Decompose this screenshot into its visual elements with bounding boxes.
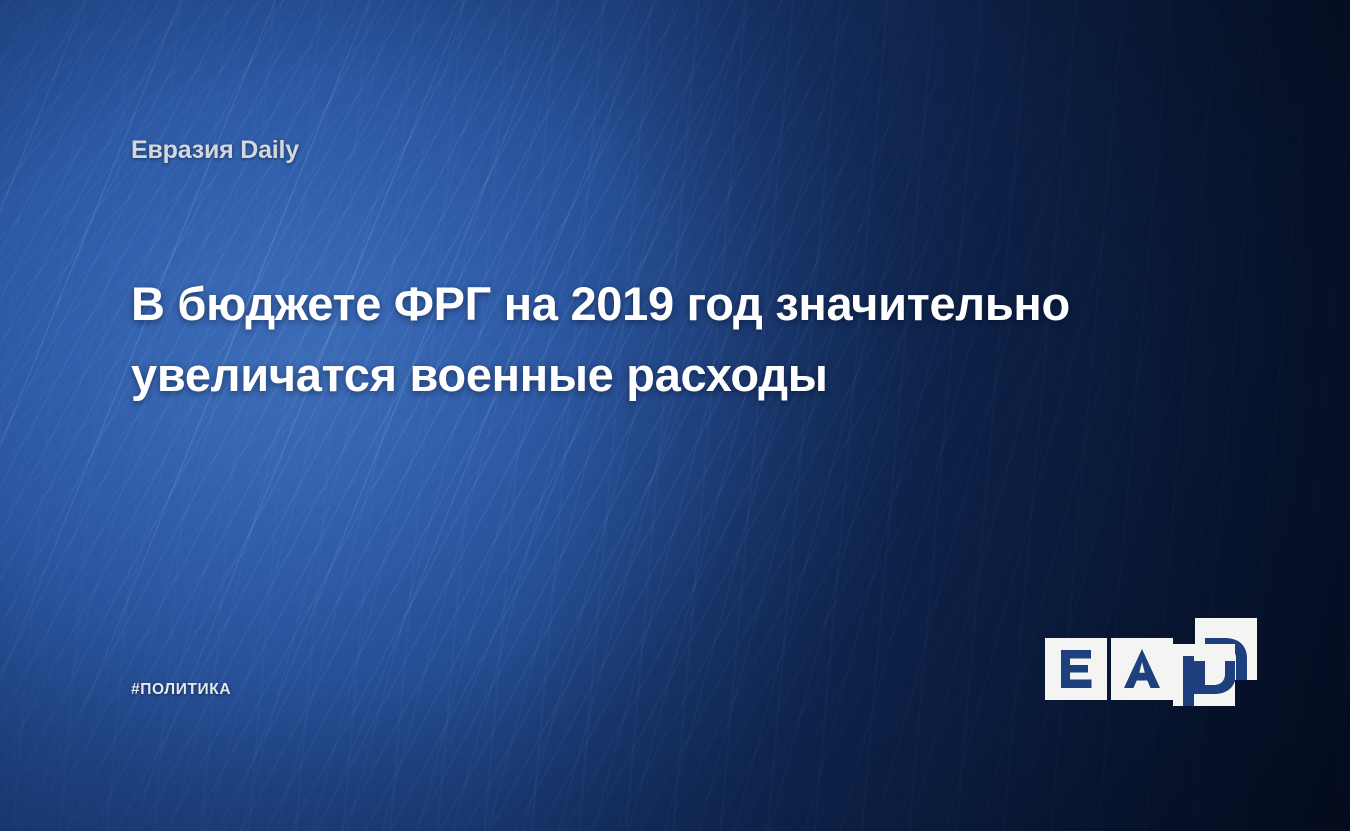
logo-tile-e (1045, 638, 1107, 700)
logo-letter-d-bottom-icon (1173, 644, 1235, 706)
brand-label: Евразия Daily (131, 136, 299, 165)
ead-logo[interactable] (1045, 618, 1225, 706)
card-content: Евразия Daily В бюджете ФРГ на 2019 год … (0, 0, 1350, 831)
logo-tile-a (1111, 638, 1173, 700)
logo-letter-a-icon (1111, 638, 1173, 700)
logo-tile-d-bottom (1173, 644, 1235, 706)
logo-letter-e-icon (1045, 638, 1107, 700)
category-tag[interactable]: #ПОЛИТИКА (131, 681, 231, 699)
news-social-card: Евразия Daily В бюджете ФРГ на 2019 год … (0, 0, 1350, 831)
headline-title: В бюджете ФРГ на 2019 год значительно ув… (131, 268, 1071, 411)
